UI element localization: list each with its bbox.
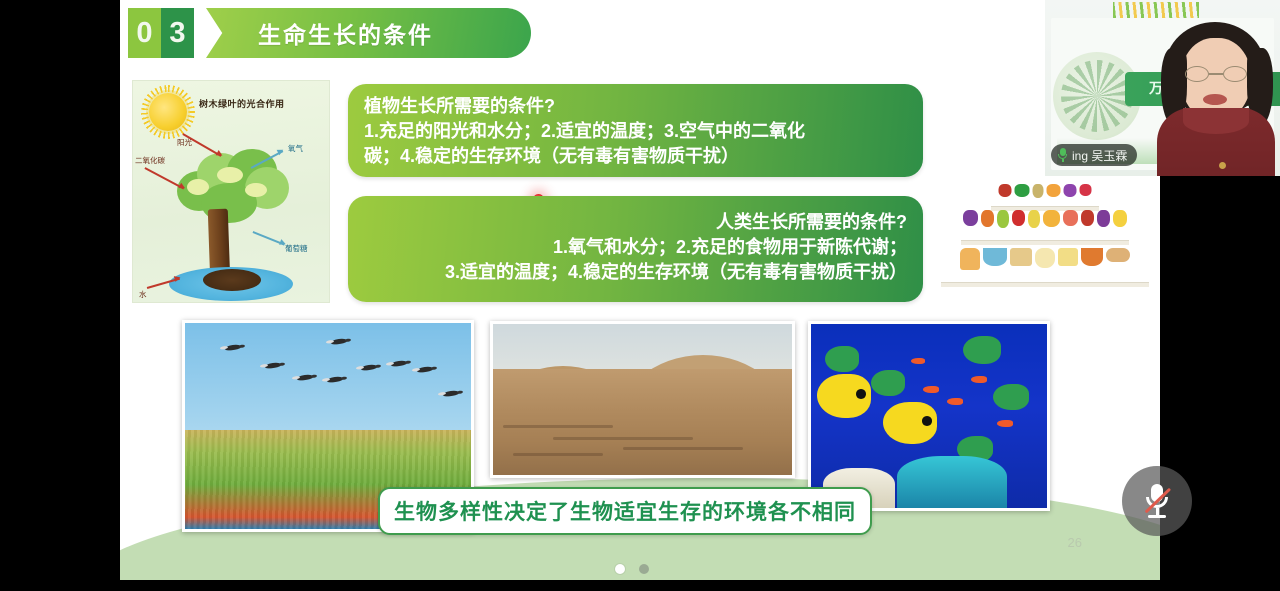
human-conditions-line-3: 3.适宜的温度；4.稳定的生存环境（无有毒有害物质干扰）	[364, 260, 907, 285]
photo-arid-desert-hills	[490, 321, 795, 478]
desert-dunes	[493, 369, 792, 475]
section-number-digit-left: 0	[128, 8, 161, 58]
participant-name: ing 吴玉霖	[1072, 147, 1127, 164]
microphone-muted-icon	[1145, 484, 1169, 518]
page-title: 生命生长的条件	[258, 16, 433, 50]
presenter-avatar	[1157, 22, 1275, 176]
slide-caption: 生物多样性决定了生物适宜生存的环境各不相同	[378, 487, 872, 535]
diagram-label-water: 水	[139, 289, 147, 300]
plant-conditions-line-3: 碳；4.稳定的生存环境（无有毒有害物质干扰）	[364, 144, 907, 169]
section-number-digit-right: 3	[161, 8, 194, 58]
plant-conditions-line-1: 植物生长所需要的条件?	[364, 94, 907, 119]
page-number: 26	[1068, 535, 1082, 550]
pagination-dot-1[interactable]	[615, 564, 625, 574]
food-pyramid-image	[940, 178, 1150, 300]
human-conditions-line-1: 人类生长所需要的条件?	[364, 210, 907, 235]
section-number-badge: 0 3	[128, 8, 194, 58]
screen: 0 3 生命生长的条件 树木绿叶的光合作用	[0, 0, 1280, 591]
tree-ground-water	[169, 267, 293, 301]
mute-microphone-button[interactable]	[1122, 466, 1192, 536]
slide-title-row: 0 3 生命生长的条件	[128, 8, 531, 58]
presenter-video-tile[interactable]: 万物和谐共生 认识生物的生长 主讲人 吴玉霖 讲师 ing 吴玉霖	[1045, 0, 1280, 176]
presentation-slide[interactable]: 0 3 生命生长的条件 树木绿叶的光合作用	[120, 0, 1160, 580]
glasses-icon	[1185, 66, 1247, 82]
pagination-dot-2[interactable]	[639, 564, 649, 574]
human-conditions-line-2: 1.氧气和水分；2.充足的食物用于新陈代谢；	[364, 235, 907, 260]
plant-conditions-box: 植物生长所需要的条件? 1.充足的阳光和水分；2.适宜的温度；3.空气中的二氧化…	[348, 84, 923, 177]
diagram-label-glucose: 葡萄糖	[285, 243, 308, 254]
photo-coral-reef-fish	[808, 321, 1050, 511]
diagram-title: 树木绿叶的光合作用	[199, 97, 285, 110]
tree-canopy	[171, 149, 289, 229]
microphone-active-icon	[1058, 148, 1067, 162]
sun-icon	[149, 93, 187, 131]
plant-conditions-line-2: 1.充足的阳光和水分；2.适宜的温度；3.空气中的二氧化	[364, 119, 907, 144]
leaf-decoration-icon	[1113, 2, 1199, 18]
slide-title-banner: 生命生长的条件	[206, 8, 531, 58]
diagram-label-oxygen: 氧气	[288, 143, 303, 154]
pagination-dots[interactable]	[615, 564, 649, 574]
wetland-sky	[185, 323, 471, 430]
diagram-label-carbon-dioxide: 二氧化碳	[135, 155, 165, 166]
photosynthesis-diagram-image: 树木绿叶的光合作用 阳光 二氧化碳 氧气 葡萄糖 水	[132, 80, 330, 303]
arrow-glucose	[253, 231, 285, 245]
diagram-label-sunlight: 阳光	[177, 137, 192, 148]
participant-name-badge: ing 吴玉霖	[1051, 144, 1137, 166]
human-conditions-box: 人类生长所需要的条件? 1.氧气和水分；2.充足的食物用于新陈代谢； 3.适宜的…	[348, 196, 923, 302]
